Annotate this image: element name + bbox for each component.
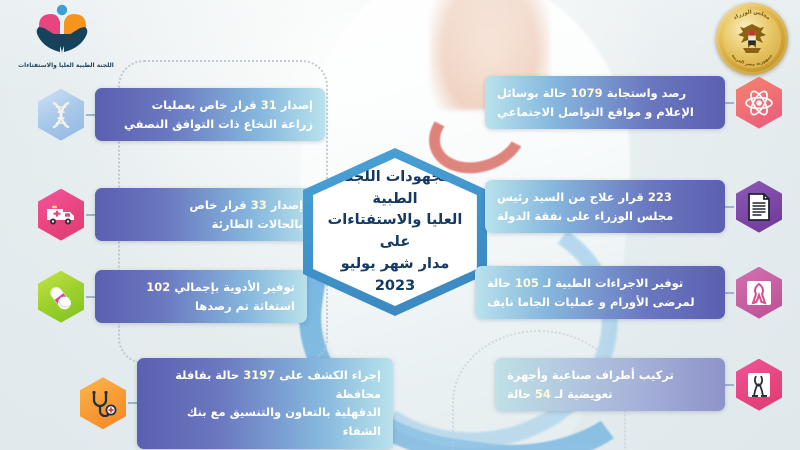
label-left-1-line1: إصدار 31 قرار خاص بعمليات: [107, 96, 313, 115]
label-left-1-line2: زراعة النخاع ذات التوافق النصفي: [107, 115, 313, 134]
label-right-2: 223 قرار علاج من السيد رئيس مجلس الوزراء…: [485, 180, 725, 233]
value-right-1: 1079: [571, 86, 603, 100]
value-left-2: 33: [251, 198, 267, 212]
connector-tick: [86, 296, 95, 298]
stethoscope-glyph: [88, 389, 118, 417]
label-right-4-line1: تركيب أطراف صناعية وأجهزة: [507, 366, 713, 385]
infographic-canvas: اللجنة الطبية العليا والاستفتاءات مجلس ا…: [0, 0, 800, 450]
prosthetic-glyph: [745, 370, 773, 400]
label-right-1: رصد واستجابة 1079 حالة بوسائل الإعلام و …: [485, 76, 725, 129]
stethoscope-icon: [78, 377, 128, 429]
document-icon: [734, 181, 784, 233]
pink-ribbon-icon: [734, 267, 784, 319]
connector-tick: [128, 402, 137, 404]
center-hexagon: مجهودات اللجنة الطبية العليا والاستفتاءا…: [295, 148, 495, 316]
prosthetic-leg-icon: [734, 359, 784, 411]
label-left-4-line2: الدقهلية بالتعاون والتنسيق مع بنك الشفاء: [149, 403, 381, 440]
value-right-2: 223: [648, 190, 672, 204]
dna-icon: [36, 89, 86, 141]
label-right-3-line2: لمرضى الأورام و عمليات الجاما نايف: [487, 293, 713, 312]
label-right-3-line1: توفير الاجراءات الطبية لـ 105 حالة: [487, 274, 713, 293]
connector-tick: [725, 102, 734, 104]
svg-text:مجلس الوزراء: مجلس الوزراء: [733, 9, 771, 21]
list-item-left-1[interactable]: إصدار 31 قرار خاص بعمليات زراعة النخاع ذ…: [36, 88, 325, 141]
value-right-4: 54: [535, 387, 551, 401]
label-left-4: إجراء الكشف على 3197 حالة بقافلة محافظة …: [137, 358, 393, 449]
svg-text:جمهورية مصر العربية: جمهورية مصر العربية: [730, 54, 774, 68]
list-item-right-2[interactable]: 223 قرار علاج من السيد رئيس مجلس الوزراء…: [485, 180, 784, 233]
label-left-1: إصدار 31 قرار خاص بعمليات زراعة النخاع ذ…: [95, 88, 325, 141]
value-left-1: 31: [261, 98, 277, 112]
value-left-3: 102: [146, 280, 170, 294]
connector-tick: [86, 114, 95, 116]
value-right-3: 105: [515, 276, 539, 290]
supreme-medical-committee-logo: اللجنة الطبية العليا والاستفتاءات: [8, 4, 116, 82]
atom-network-icon: [734, 77, 784, 129]
ribbon-glyph: [744, 278, 774, 308]
label-right-1-line1: رصد واستجابة 1079 حالة بوسائل: [497, 84, 713, 103]
label-left-3-line2: استغاثة تم رصدها: [107, 297, 295, 316]
label-left-2-line2: بالحالات الطارئة: [107, 215, 303, 234]
label-left-3-line1: توفير الأدوية بإجمالي 102: [107, 278, 295, 297]
label-right-4-line2: تعويضية لـ 54 حالة: [507, 385, 713, 404]
logo-hands-heart-icon: [8, 4, 116, 64]
label-left-3: توفير الأدوية بإجمالي 102 استغاثة تم رصد…: [95, 270, 307, 323]
connector-tick: [725, 292, 734, 294]
label-right-1-line2: الإعلام و مواقع التواصل الاجتماعي: [497, 103, 713, 122]
ambulance-icon: [36, 189, 86, 241]
connector-tick: [725, 206, 734, 208]
label-left-2-line1: إصدار 33 قرار خاص: [107, 196, 303, 215]
label-left-2: إصدار 33 قرار خاص بالحالات الطارئة: [95, 188, 315, 241]
list-item-left-4[interactable]: إجراء الكشف على 3197 حالة بقافلة محافظة …: [78, 358, 393, 449]
dna-glyph: [46, 100, 76, 130]
atom-glyph: [743, 87, 775, 119]
logo-caption: اللجنة الطبية العليا والاستفتاءات: [14, 62, 118, 70]
label-right-3: توفير الاجراءات الطبية لـ 105 حالة لمرضى…: [475, 266, 725, 319]
label-right-2-line2: مجلس الوزراء على نفقة الدولة: [497, 207, 713, 226]
list-item-right-3[interactable]: توفير الاجراءات الطبية لـ 105 حالة لمرضى…: [475, 266, 784, 319]
list-item-right-4[interactable]: تركيب أطراف صناعية وأجهزة تعويضية لـ 54 …: [495, 358, 784, 411]
label-right-4: تركيب أطراف صناعية وأجهزة تعويضية لـ 54 …: [495, 358, 725, 411]
label-right-2-line1: 223 قرار علاج من السيد رئيس: [497, 188, 713, 207]
egypt-cabinet-emblem: مجلس الوزراء جمهورية مصر العربية: [716, 3, 788, 75]
document-glyph: [746, 192, 772, 222]
page-title: مجهودات اللجنة الطبية العليا والاستفتاءا…: [306, 167, 484, 298]
pills-icon: [36, 271, 86, 323]
ambulance-glyph: [45, 203, 77, 227]
page-title-line2: العليا والاستفتاءات على: [322, 210, 468, 254]
connector-tick: [725, 384, 734, 386]
value-left-4: 3197: [243, 368, 275, 382]
pills-glyph: [46, 283, 76, 311]
list-item-right-1[interactable]: رصد واستجابة 1079 حالة بوسائل الإعلام و …: [485, 76, 784, 129]
emblem-ring-text: مجلس الوزراء جمهورية مصر العربية: [718, 5, 786, 73]
connector-tick: [86, 214, 95, 216]
label-left-4-line1: إجراء الكشف على 3197 حالة بقافلة محافظة: [149, 366, 381, 403]
list-item-left-3[interactable]: توفير الأدوية بإجمالي 102 استغاثة تم رصد…: [36, 270, 307, 323]
list-item-left-2[interactable]: إصدار 33 قرار خاص بالحالات الطارئة: [36, 188, 315, 241]
